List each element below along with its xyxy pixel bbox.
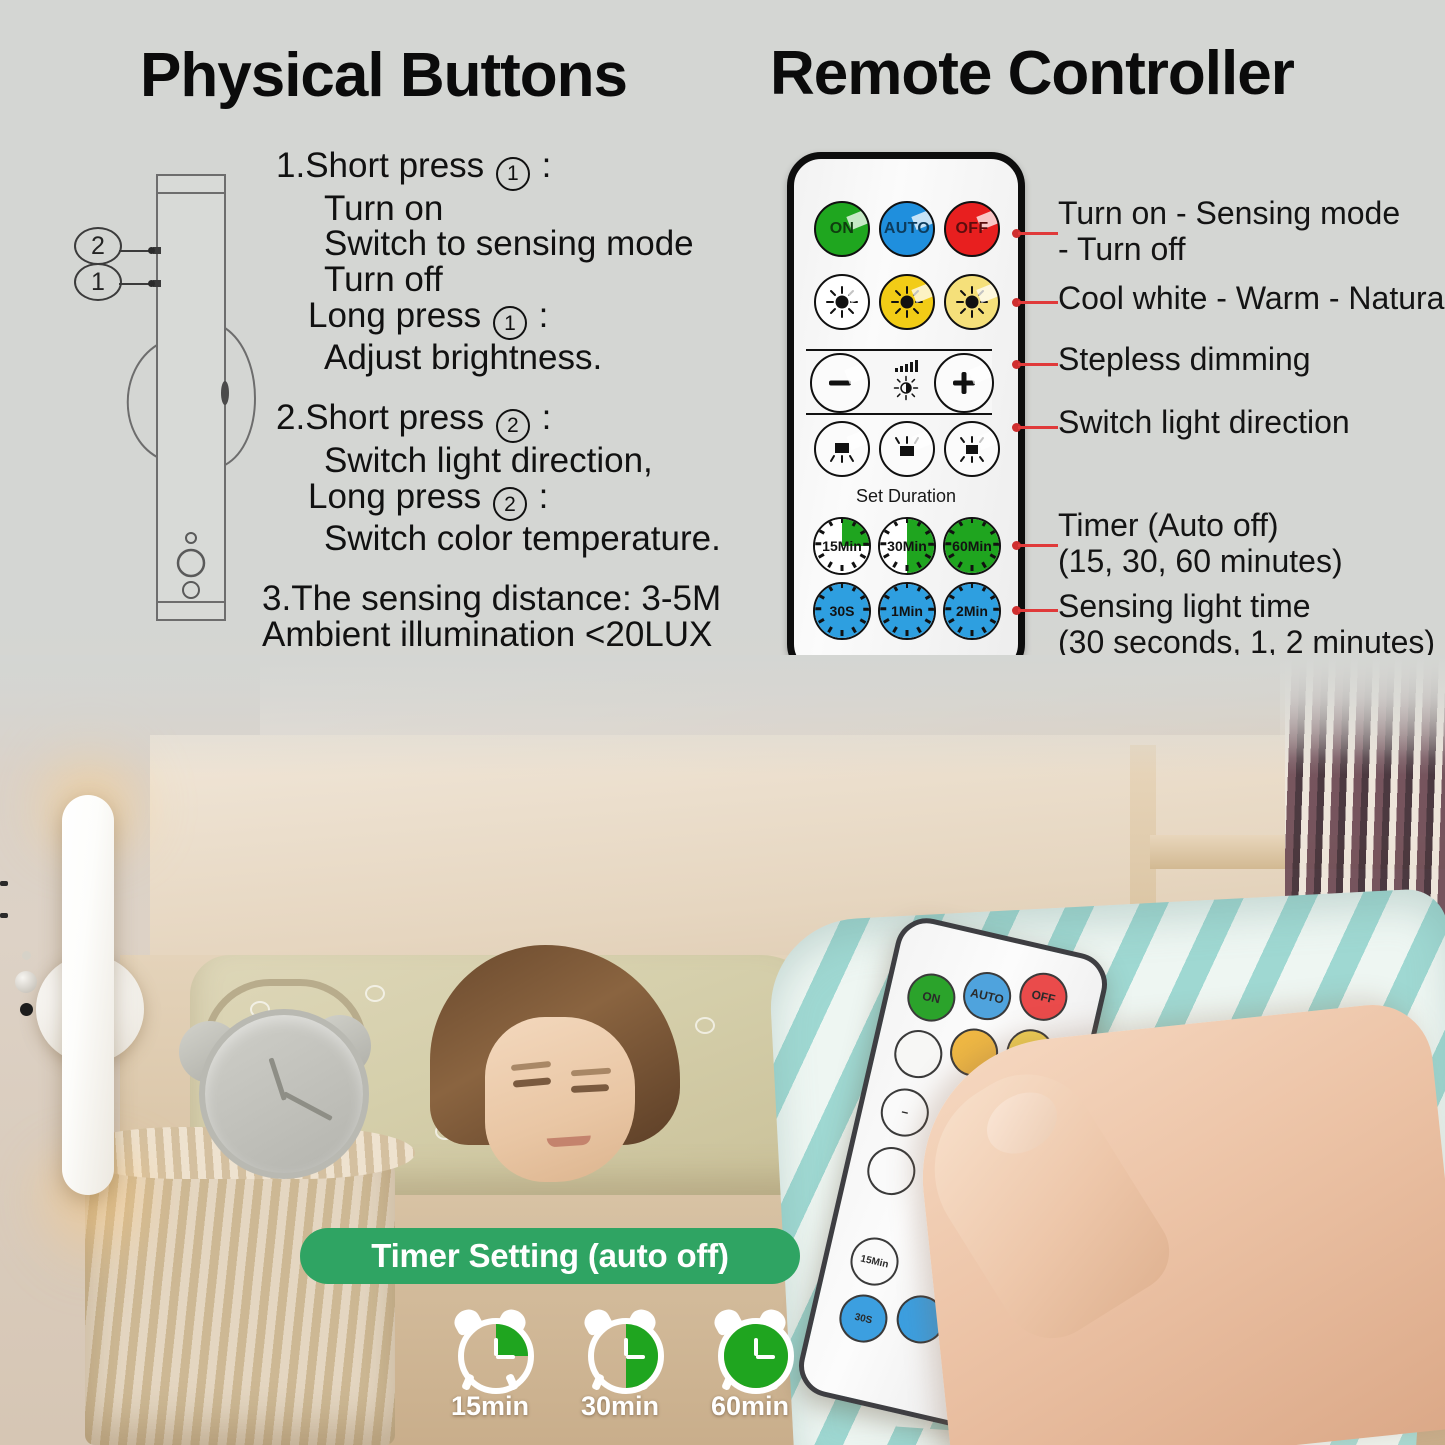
remote-sensing-1min-button[interactable]: 1Min (878, 582, 936, 640)
instruction-2-long-text: Long press (308, 477, 481, 516)
alarm-hand-vertical (494, 1338, 498, 1356)
alarm-clock-60min-icon (712, 1310, 788, 1386)
product-infographic: Physical Buttons Remote Controller 2 1 (0, 0, 1445, 1445)
alarm-clock-30min-icon (582, 1310, 658, 1386)
alarm-dial (588, 1318, 664, 1394)
alarm-dial (718, 1318, 794, 1394)
annotation-label-2-line-1: Cool white - Warm - Natural (1058, 281, 1445, 317)
callout-leader-dot-2 (148, 247, 155, 254)
spacer-1 (262, 376, 762, 400)
inline-circle-2: 2 (496, 409, 530, 443)
instruction-1-colon: : (542, 146, 552, 185)
annotation-leader-2 (1018, 301, 1058, 304)
instruction-2-colon: : (542, 398, 552, 437)
instruction-1-line-2: Switch to sensing mode (262, 226, 762, 262)
instruction-2-line-1: Switch light direction, (262, 443, 762, 479)
annotation-label-1: Turn on - Sensing mode - Turn off (1058, 196, 1400, 268)
annotation-label-2: Cool white - Warm - Natural (1058, 281, 1445, 317)
timer-icon-label-30min: 30min (581, 1391, 659, 1422)
remote-on-button[interactable]: ON (814, 201, 870, 257)
photo-remote-direction-button[interactable] (863, 1142, 921, 1200)
remote-off-label: OFF (956, 220, 989, 238)
alarm-dial (458, 1318, 534, 1394)
annotation-label-3-line-1: Stepless dimming (1058, 342, 1311, 378)
eye-left (513, 1077, 551, 1087)
annotation-label-5: Timer (Auto off) (15, 30, 60 minutes) (1058, 508, 1343, 580)
callout-badge-2: 2 (74, 227, 122, 265)
alarm-clock (185, 987, 371, 1173)
remote-auto-label: AUTO (884, 220, 930, 238)
instruction-2-long-colon: : (539, 477, 549, 516)
remote-dim-plus-button[interactable] (934, 353, 994, 413)
side-button-2[interactable] (0, 881, 8, 886)
timer-icon-item: 15min (440, 1310, 540, 1438)
inline-circle-1b: 1 (493, 306, 527, 340)
page-title-remote-controller: Remote Controller (770, 38, 1294, 109)
instruction-2-head-text: 2.Short press (276, 398, 484, 437)
remote-light-both-button[interactable] (944, 421, 1000, 477)
instruction-1-heading: 1.Short press 1 : (262, 148, 762, 191)
timer-icon-item: 30min (570, 1310, 670, 1438)
instruction-2-heading: 2.Short press 2 : (262, 400, 762, 443)
instruction-3-line-1: 3.The sensing distance: 3-5M (262, 581, 762, 617)
remote-timer-60min-label: 60Min (952, 538, 992, 554)
photo-remote-minus-button[interactable]: − (876, 1084, 934, 1142)
annotation-leader-3 (1018, 363, 1058, 366)
motion-sensor-light-bar (62, 795, 114, 1195)
photo-remote-auto-button[interactable]: AUTO (958, 967, 1016, 1025)
clock-face (199, 1009, 369, 1179)
light-sensor (20, 1003, 33, 1016)
annotation-label-6-line-1: Sensing light time (1058, 589, 1435, 625)
remote-dim-minus-button[interactable] (810, 353, 870, 413)
instruction-1-line-1: Turn on (262, 191, 762, 227)
annotation-leader-5 (1018, 544, 1058, 547)
callout-badge-1: 1 (74, 263, 122, 301)
remote-timer-30min-button[interactable]: 30Min (878, 517, 936, 575)
remote-on-label: ON (830, 220, 855, 238)
remote-warm-button[interactable] (879, 274, 935, 330)
remote-timer-15min-label: 15Min (822, 538, 862, 554)
button-gloss (911, 428, 935, 449)
annotation-label-4: Switch light direction (1058, 405, 1350, 441)
dimming-level-bars (895, 360, 918, 372)
instruction-1-long-colon: : (539, 296, 549, 335)
annotation-label-1-line-1: Turn on - Sensing mode (1058, 196, 1400, 232)
sleeping-woman (430, 955, 680, 1205)
photo-top-fade (0, 655, 1445, 775)
alarm-hand-vertical (624, 1338, 628, 1356)
instruction-panel: Physical Buttons Remote Controller 2 1 (0, 0, 1445, 700)
remote-auto-button[interactable]: AUTO (879, 201, 935, 257)
remote-light-up-button[interactable] (879, 421, 935, 477)
alarm-hand-vertical (754, 1338, 758, 1356)
remote-sensing-30s-button[interactable]: 30S (813, 582, 871, 640)
page-title-physical-buttons: Physical Buttons (140, 40, 627, 111)
eye-right (571, 1084, 609, 1093)
annotation-label-1-line-2: - Turn off (1058, 232, 1400, 268)
annotation-label-5-line-1: Timer (Auto off) (1058, 508, 1343, 544)
stepless-dimming-icon (878, 351, 934, 409)
button-gloss (844, 361, 870, 384)
annotation-leader-6 (1018, 609, 1058, 612)
button-gloss (846, 428, 870, 449)
timer-icon-item: 60min (700, 1310, 800, 1438)
annotation-label-4-line-1: Switch light direction (1058, 405, 1350, 441)
alarm-clock-15min-icon (452, 1310, 528, 1386)
annotation-label-5-line-2: (15, 30, 60 minutes) (1058, 544, 1343, 580)
remote-sensing-2min-button[interactable]: 2Min (943, 582, 1001, 640)
face (485, 1017, 635, 1182)
remote-light-down-button[interactable] (814, 421, 870, 477)
alarm-hand-horizontal (496, 1355, 515, 1359)
remote-sensing-30s-label: 30S (830, 603, 855, 619)
alarm-hand-horizontal (756, 1355, 775, 1359)
indicator-led (22, 951, 31, 960)
inline-circle-1: 1 (496, 157, 530, 191)
pir-sensor (15, 971, 37, 993)
side-button-1[interactable] (0, 913, 8, 918)
photo-remote-15min-button[interactable]: 15Min (846, 1233, 904, 1291)
instruction-1-head-text: 1.Short press (276, 146, 484, 185)
instruction-3-line-2: Ambient illumination <20LUX (262, 617, 762, 653)
device-diagram: 2 1 (60, 165, 275, 630)
inline-circle-2b: 2 (493, 487, 527, 521)
half-sun-icon (893, 375, 919, 401)
mouth (547, 1135, 592, 1147)
remote-sensing-1min-label: 1Min (891, 603, 923, 619)
remote-cool-white-button[interactable] (814, 274, 870, 330)
instruction-1-line-4: Adjust brightness. (262, 340, 762, 376)
photo-remote-on-button[interactable]: ON (903, 969, 961, 1027)
remote-timer-15min-button[interactable]: 15Min (813, 517, 871, 575)
spacer-2 (262, 557, 762, 581)
remote-controller-diagram: ON AUTO OFF (787, 152, 1025, 678)
photo-remote-off-button[interactable]: OFF (1015, 968, 1073, 1026)
alarm-hand-horizontal (626, 1355, 645, 1359)
remote-off-button[interactable]: OFF (944, 201, 1000, 257)
eyebrow-left (511, 1061, 551, 1071)
button-gloss (976, 428, 1000, 449)
annotation-leader-4 (1018, 426, 1058, 429)
timer-setting-banner-label: Timer Setting (auto off) (371, 1237, 729, 1275)
remote-sensing-2min-label: 2Min (956, 603, 988, 619)
annotation-label-3: Stepless dimming (1058, 342, 1311, 378)
callout-leader-dot-1 (148, 280, 155, 287)
instruction-2-long-heading: Long press 2 : (262, 479, 762, 522)
timer-icon-label-15min: 15min (451, 1391, 529, 1422)
instruction-1-line-3: Turn off (262, 262, 762, 298)
eyebrow-right (571, 1068, 611, 1077)
remote-natural-button[interactable] (944, 274, 1000, 330)
instruction-1-long-text: Long press (308, 296, 481, 335)
instruction-text-block: 1.Short press 1 : Turn on Switch to sens… (262, 148, 762, 652)
remote-timer-30min-label: 30Min (887, 538, 927, 554)
timer-setting-banner: Timer Setting (auto off) (300, 1228, 800, 1284)
photo-remote-cool-button[interactable] (890, 1025, 948, 1083)
set-duration-label: Set Duration (794, 486, 1018, 507)
annotation-leader-1 (1018, 232, 1058, 235)
photo-remote-30s-button[interactable]: 30S (835, 1290, 893, 1348)
instruction-1-long-heading: Long press 1 : (262, 298, 762, 341)
timer-icon-row: 15min 30min (440, 1310, 800, 1438)
clock-hand-hour (283, 1091, 333, 1121)
timer-icon-label-60min: 60min (711, 1391, 789, 1422)
button-gloss (968, 361, 994, 384)
annotation-label-6: Sensing light time (30 seconds, 1, 2 min… (1058, 589, 1435, 661)
remote-timer-60min-button[interactable]: 60Min (943, 517, 1001, 575)
instruction-2-line-2: Switch color temperature. (262, 521, 762, 557)
